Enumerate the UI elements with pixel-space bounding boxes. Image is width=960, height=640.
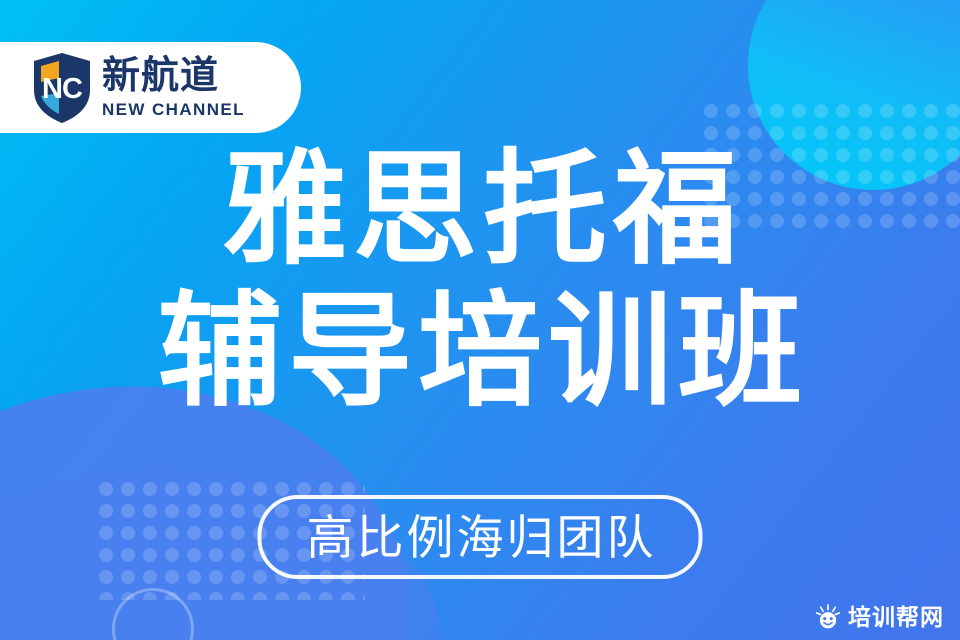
subtitle-text: 高比例海归团队	[304, 514, 657, 561]
headline-line-2: 辅导培训班	[0, 290, 960, 414]
headline-block: 雅思托福 辅导培训班	[0, 148, 960, 414]
brand-name-en: NEW CHANNEL	[102, 101, 245, 118]
headline-line-1: 雅思托福	[0, 148, 960, 272]
brand-name-cn: 新航道	[102, 57, 245, 95]
shield-icon: NC	[31, 52, 93, 124]
decorative-ring	[112, 588, 194, 640]
watermark-text: 培训帮网	[848, 606, 944, 629]
svg-text:NC: NC	[42, 73, 83, 105]
watermark: 培训帮网	[807, 600, 952, 634]
brand-logo-card: NC 新航道 NEW CHANNEL	[0, 42, 301, 133]
promo-banner: NC 新航道 NEW CHANNEL 雅思托福 辅导培训班 高比例海归团队	[0, 0, 960, 640]
subtitle-pill: 高比例海归团队	[258, 495, 703, 579]
sun-face-icon	[815, 604, 841, 630]
brand-wordmark: 新航道 NEW CHANNEL	[102, 57, 245, 118]
